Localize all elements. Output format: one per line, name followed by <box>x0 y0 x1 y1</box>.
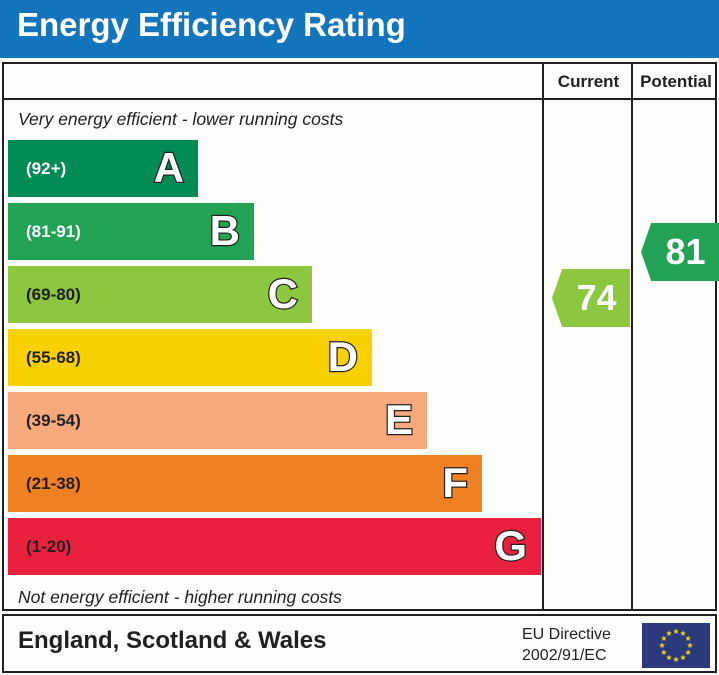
band-d-letter: D <box>328 336 358 378</box>
band-d-range: (55-68) <box>26 348 81 368</box>
band-bars: (92+) A (81-91) B (69-80) C (55-68) D (3… <box>4 64 538 609</box>
rating-table: Current Potential Very energy efficient … <box>2 62 717 611</box>
footer-region-label: England, Scotland & Wales <box>18 627 326 655</box>
band-g-range: (1-20) <box>26 537 71 557</box>
band-a-range: (92+) <box>26 159 66 179</box>
band-a: (92+) A <box>8 140 198 197</box>
band-e: (39-54) E <box>8 392 427 449</box>
band-c-letter: C <box>268 273 298 315</box>
band-f-range: (21-38) <box>26 474 81 494</box>
band-c: (69-80) C <box>8 266 312 323</box>
column-divider-current <box>542 64 544 609</box>
potential-rating-value: 81 <box>654 234 705 270</box>
band-d: (55-68) D <box>8 329 372 386</box>
page-title: Energy Efficiency Rating <box>17 6 406 44</box>
band-a-letter: A <box>154 147 184 189</box>
footer-directive-line2: 2002/91/EC <box>522 645 611 666</box>
band-c-range: (69-80) <box>26 285 81 305</box>
band-b: (81-91) B <box>8 203 254 260</box>
column-header-current: Current <box>544 72 633 92</box>
column-divider-potential <box>631 64 633 609</box>
energy-efficiency-certificate: Energy Efficiency Rating Current Potenti… <box>0 0 719 675</box>
band-e-letter: E <box>385 399 413 441</box>
column-header-potential: Potential <box>633 72 719 92</box>
eu-flag-icon <box>642 623 710 668</box>
footer-directive: EU Directive 2002/91/EC <box>522 624 611 666</box>
footer-directive-line1: EU Directive <box>522 624 611 645</box>
footer-bar: England, Scotland & Wales EU Directive 2… <box>2 614 717 673</box>
band-b-letter: B <box>210 210 240 252</box>
band-b-range: (81-91) <box>26 222 81 242</box>
potential-rating-arrow: 81 <box>641 223 719 281</box>
band-g-letter: G <box>494 525 527 567</box>
band-g: (1-20) G <box>8 518 541 575</box>
current-rating-arrow: 74 <box>552 269 630 327</box>
title-bar: Energy Efficiency Rating <box>0 0 719 58</box>
band-f: (21-38) F <box>8 455 482 512</box>
current-rating-value: 74 <box>565 280 616 316</box>
band-f-letter: F <box>442 462 468 504</box>
band-e-range: (39-54) <box>26 411 81 431</box>
